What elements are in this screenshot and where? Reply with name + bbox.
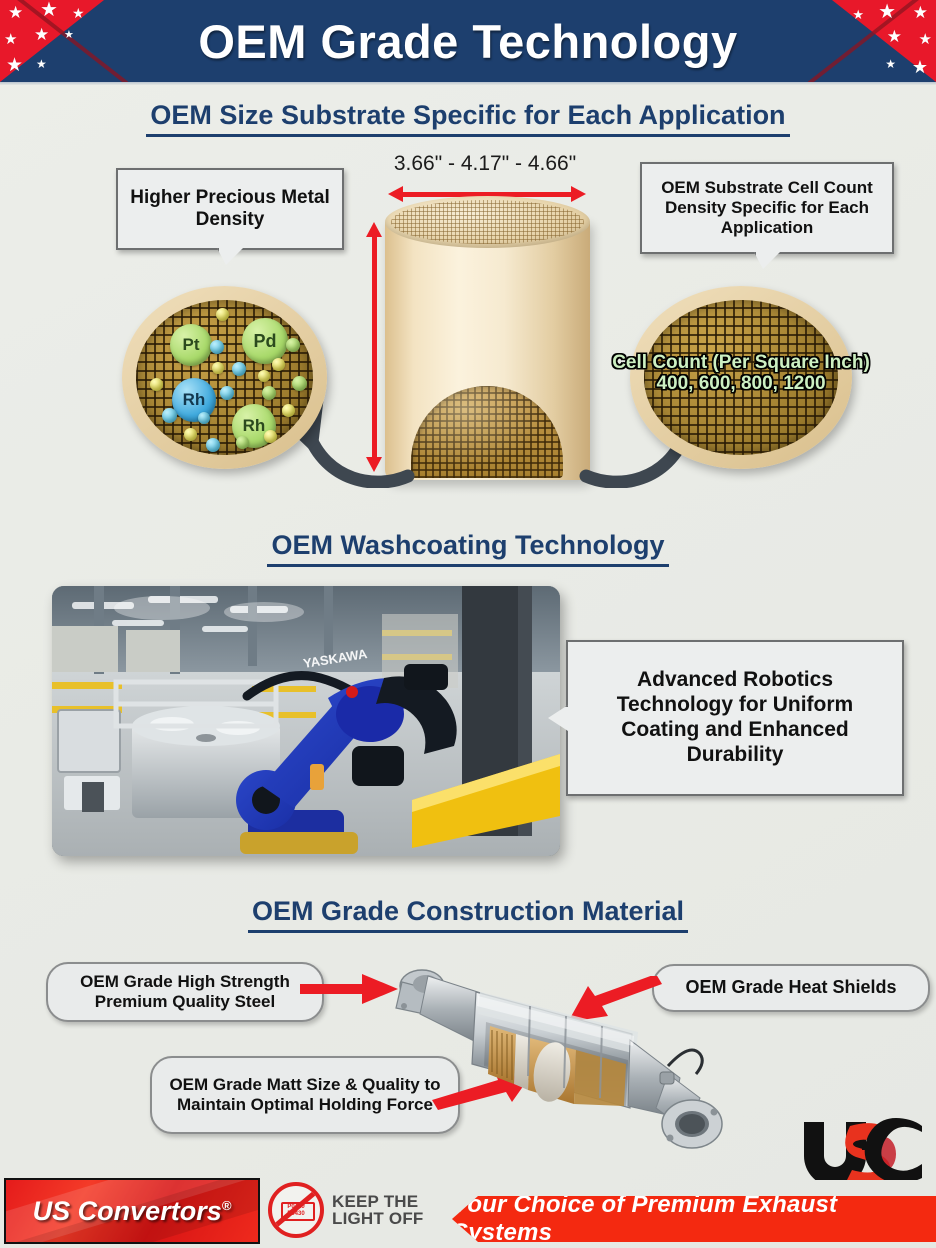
metal-particle-small (232, 362, 246, 376)
infographic-page: ★ ★ ★ ★ ★ ★ ★ ★ ★ ★ ★ ★ ★ ★ ★ OEM Grade … (0, 0, 936, 1248)
honeycomb-surface: Pt Pd Rh Rh (136, 300, 313, 455)
keep-the-light-off-text: KEEP THE LIGHT OFF (332, 1193, 424, 1228)
bubble-tail-icon (754, 252, 784, 269)
callout-text: Higher Precious Metal Density (126, 187, 334, 232)
metal-particle-small (258, 370, 270, 382)
keep-line-1: KEEP THE (332, 1193, 424, 1210)
section-title-washcoating: OEM Washcoating Technology (0, 530, 936, 567)
metal-particle-small (282, 404, 295, 417)
metal-particle-small (184, 428, 197, 441)
section-title-substrate-text: OEM Size Substrate Specific for Each App… (150, 100, 785, 137)
washcoating-robotics-photo: YASKAWA (52, 586, 560, 856)
factory-scene: YASKAWA (52, 586, 560, 856)
header-divider (0, 82, 936, 85)
metal-particle-small (212, 362, 224, 374)
metal-particle-small (198, 412, 210, 424)
metal-particle-small (264, 430, 277, 443)
diameter-label: 3.66" - 4.17" - 4.66" (360, 152, 610, 176)
keep-the-light-off-badge: P0420 P0430 KEEP THE LIGHT OFF (268, 1184, 438, 1236)
keep-line-2: LIGHT OFF (332, 1210, 424, 1227)
section-title-washcoating-text: OEM Washcoating Technology (271, 530, 664, 567)
section-title-construction-text: OEM Grade Construction Material (252, 896, 684, 933)
page-header: ★ ★ ★ ★ ★ ★ ★ ★ ★ ★ ★ ★ ★ ★ ★ OEM Grade … (0, 0, 936, 82)
cylinder-top-face (385, 196, 590, 248)
section-title-construction: OEM Grade Construction Material (0, 896, 936, 933)
brand-name: US Convertors (33, 1196, 222, 1226)
cell-count-overlay: Cell Count (Per Square Inch) 400, 600, 8… (600, 352, 882, 395)
metal-particle-small (272, 358, 285, 371)
metal-particle-pt: Pt (170, 324, 212, 366)
callout-higher-precious-metal-density: Higher Precious Metal Density (116, 168, 344, 250)
callout-oem-substrate-cell-count: OEM Substrate Cell Count Density Specifi… (640, 162, 894, 254)
tagline-banner: Your Choice of Premium Exhaust Systems (452, 1196, 936, 1242)
metal-particle-small (162, 408, 177, 423)
us-convertors-wordmark: US Convertors® (33, 1196, 232, 1227)
cell-count-title: Cell Count (Per Square Inch) (600, 352, 882, 373)
callout-text: OEM Grade High Strength Premium Quality … (58, 972, 312, 1013)
metal-particle-small (292, 376, 307, 391)
page-title: OEM Grade Technology (0, 0, 936, 82)
cell-count-values: 400, 600, 800, 1200 (600, 373, 882, 394)
converter-cutaway-drawing (380, 948, 730, 1160)
no-check-engine-light-icon: P0420 P0430 (268, 1182, 324, 1238)
catalytic-converter-image (380, 948, 730, 1160)
cell-grid (136, 300, 313, 455)
callout-high-strength-steel: OEM Grade High Strength Premium Quality … (46, 962, 324, 1022)
metal-particle-small (210, 340, 224, 354)
bubble-tail-icon (217, 248, 247, 265)
metal-particle-small (236, 436, 249, 449)
us-convertors-logo-box: US Convertors® (4, 1178, 260, 1244)
tagline-text: Your Choice of Premium Exhaust Systems (452, 1191, 936, 1247)
metal-particle-small (286, 338, 300, 352)
section-title-substrate: OEM Size Substrate Specific for Each App… (0, 100, 936, 137)
usc-logo-mark (800, 1118, 926, 1180)
metal-particle-small (262, 386, 276, 400)
registered-mark: ® (222, 1198, 232, 1213)
metal-particle-pd: Pd (242, 318, 288, 364)
callout-text: Advanced Robotics Technology for Uniform… (580, 668, 890, 767)
metal-particle-small (150, 378, 163, 391)
callout-advanced-robotics: Advanced Robotics Technology for Uniform… (566, 640, 904, 796)
callout-text: OEM Substrate Cell Count Density Specifi… (650, 178, 884, 238)
cylinder-honeycomb-cutaway (411, 386, 563, 478)
metal-particle-small (220, 386, 234, 400)
metal-particle-small (216, 308, 229, 321)
usc-logo (800, 1118, 926, 1180)
metal-particle-small (206, 438, 220, 452)
precious-metal-detail-circle: Pt Pd Rh Rh (122, 286, 327, 469)
